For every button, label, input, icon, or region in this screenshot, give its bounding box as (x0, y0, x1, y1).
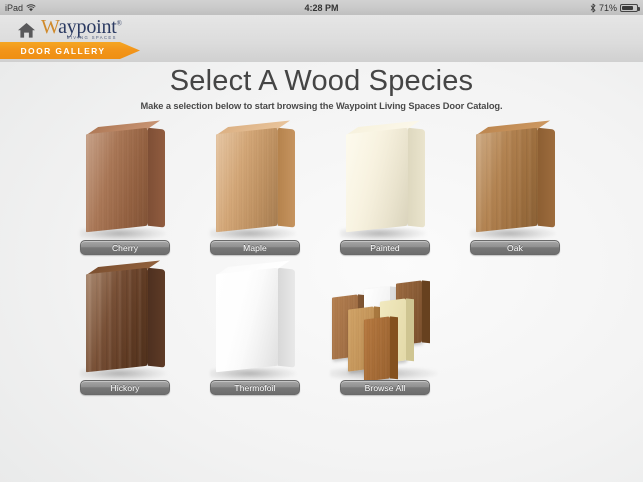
waypoint-logo: Waypoint® LIVING SPACES (41, 17, 122, 37)
species-button-maple[interactable]: Maple (210, 240, 300, 255)
door-gallery-banner[interactable]: DOOR GALLERY (0, 42, 140, 59)
fan-piece-front-3 (364, 316, 390, 381)
device-name: iPad (5, 3, 23, 13)
maple-sample (190, 128, 320, 240)
species-label-thermofoil: Thermofoil (234, 383, 275, 393)
species-cell-painted[interactable]: Painted (320, 128, 450, 268)
species-label-hickory: Hickory (110, 383, 139, 393)
maple-block (216, 128, 278, 233)
species-button-hickory[interactable]: Hickory (80, 380, 170, 395)
status-bar-right: 71% (590, 3, 638, 13)
species-label-painted: Painted (370, 243, 400, 253)
species-button-browse-all[interactable]: Browse All (340, 380, 430, 395)
battery-icon (620, 4, 638, 12)
oak-sample (450, 128, 580, 240)
status-bar-time: 4:28 PM (0, 3, 643, 13)
species-label-maple: Maple (243, 243, 267, 253)
home-icon[interactable] (16, 20, 36, 40)
thermofoil-block (216, 268, 278, 373)
species-grid-row-2: Hickory Thermofoil (0, 268, 643, 408)
species-cell-oak[interactable]: Oak (450, 128, 580, 268)
painted-block (346, 128, 408, 233)
logo-cap: W (41, 16, 58, 38)
species-button-painted[interactable]: Painted (340, 240, 430, 255)
species-cell-hickory[interactable]: Hickory (60, 268, 190, 408)
battery-percent-label: 71% (599, 3, 617, 13)
oak-block (476, 128, 538, 233)
species-button-oak[interactable]: Oak (470, 240, 560, 255)
thermofoil-sample (190, 268, 320, 380)
browse-all-fan (326, 274, 444, 374)
species-button-cherry[interactable]: Cherry (80, 240, 170, 255)
bluetooth-icon (590, 3, 596, 13)
browse-all-sample (320, 268, 450, 380)
hickory-block (86, 268, 148, 373)
species-label-browse-all: Browse All (365, 383, 406, 393)
door-gallery-banner-label: DOOR GALLERY (21, 46, 120, 56)
cherry-block (86, 128, 148, 233)
species-grid-row-1: Cherry Maple (0, 128, 643, 268)
app-header: Waypoint® LIVING SPACES DOOR GALLERY (0, 15, 643, 62)
status-bar: iPad 4:28 PM 71% (0, 0, 643, 15)
species-cell-browse-all[interactable]: Browse All (320, 268, 450, 408)
species-button-thermofoil[interactable]: Thermofoil (210, 380, 300, 395)
cherry-sample (60, 128, 190, 240)
logo-registered-mark: ® (117, 19, 122, 27)
door-gallery-screen: iPad 4:28 PM 71% (0, 0, 643, 482)
species-label-oak: Oak (507, 243, 523, 253)
species-cell-thermofoil[interactable]: Thermofoil (190, 268, 320, 408)
logo-tagline: LIVING SPACES (67, 36, 117, 40)
hickory-sample (60, 268, 190, 380)
wifi-icon (26, 4, 36, 12)
species-cell-cherry[interactable]: Cherry (60, 128, 190, 268)
species-cell-maple[interactable]: Maple (190, 128, 320, 268)
title-area: Select A Wood Species Make a selection b… (0, 64, 643, 111)
page-title: Select A Wood Species (0, 64, 643, 98)
painted-sample (320, 128, 450, 240)
page-subtitle: Make a selection below to start browsing… (0, 101, 643, 111)
status-bar-left: iPad (5, 3, 36, 13)
species-label-cherry: Cherry (112, 243, 138, 253)
species-grid: Cherry Maple (0, 128, 643, 408)
